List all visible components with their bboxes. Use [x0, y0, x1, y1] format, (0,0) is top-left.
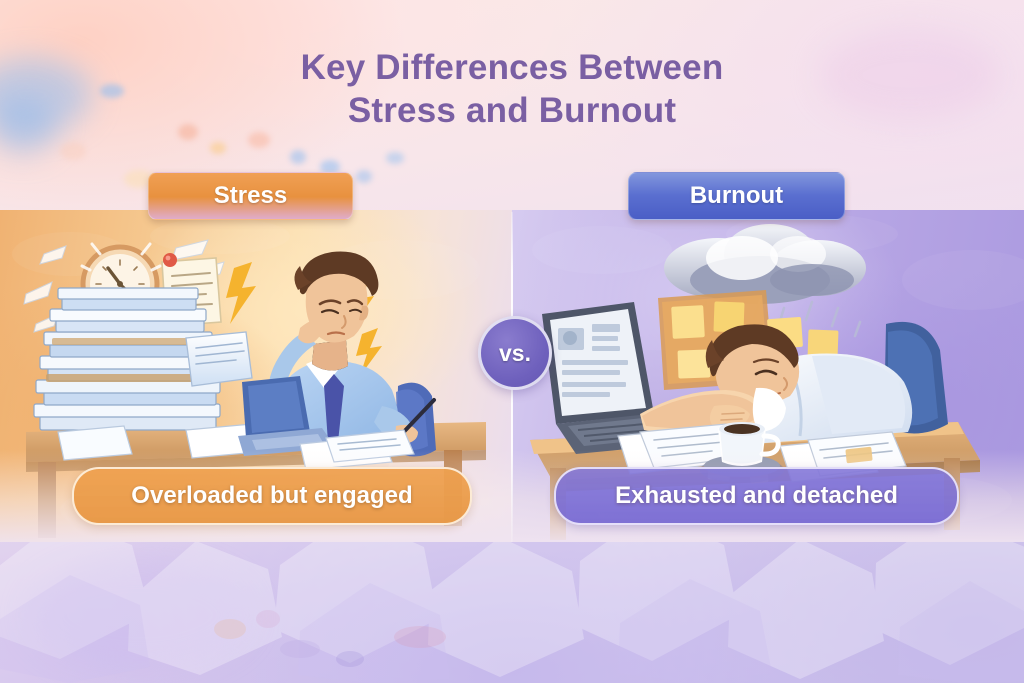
stress-caption-text: Overloaded but engaged	[131, 482, 412, 510]
infographic-stage: Key Differences Between Stress and Burno…	[0, 0, 1024, 683]
stress-badge-label: Stress	[214, 182, 287, 210]
vs-label: vs.	[499, 340, 531, 367]
bg-speck-4	[248, 132, 270, 148]
burnout-caption-text: Exhausted and detached	[615, 482, 898, 510]
burnout-badge-label: Burnout	[690, 182, 783, 210]
bg-speck-10	[60, 142, 86, 160]
page-title: Key Differences Between Stress and Burno…	[0, 46, 1024, 133]
stress-caption-pill: Overloaded but engaged	[72, 467, 472, 525]
bg-speck-5	[290, 150, 306, 164]
title-line-2: Stress and Burnout	[0, 89, 1024, 132]
title-line-1: Key Differences Between	[0, 46, 1024, 89]
stress-badge: Stress	[148, 172, 353, 220]
burnout-badge: Burnout	[628, 172, 845, 220]
vs-badge: vs.	[478, 316, 552, 390]
bg-speck-7	[356, 170, 372, 183]
bg-speck-8	[386, 152, 404, 164]
burnout-caption-pill: Exhausted and detached	[554, 467, 959, 525]
bg-speck-3	[210, 142, 226, 154]
